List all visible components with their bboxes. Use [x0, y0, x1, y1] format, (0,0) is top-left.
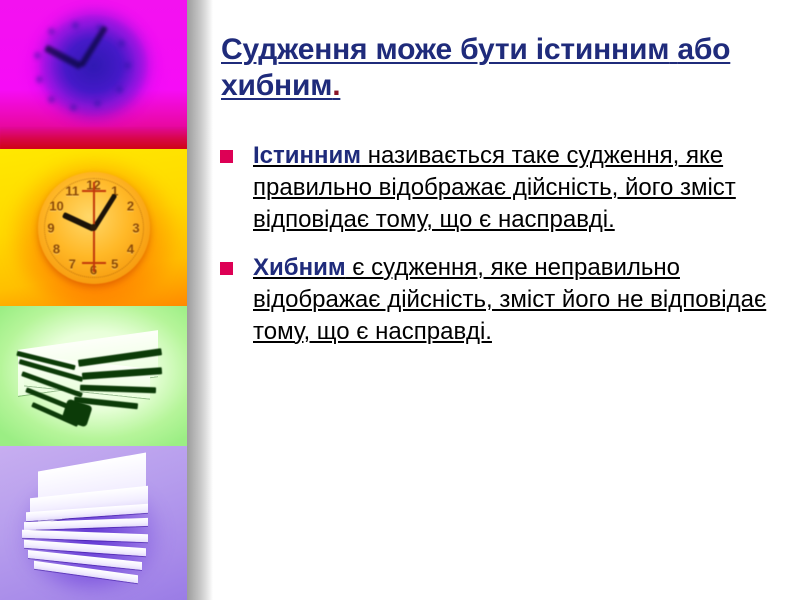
violet-clock-tick [118, 40, 125, 47]
slide-title: Судження може бути істинним або хибним. [221, 32, 761, 105]
violet-panel-bottom-band [0, 127, 187, 149]
violet-clock-face [35, 9, 153, 123]
clock-numeral: 11 [65, 184, 79, 197]
clock-numeral: 2 [127, 200, 134, 213]
bullet-keyword-true: Істинним [253, 142, 361, 169]
slide-title-period: . [332, 69, 340, 102]
presentation-slide: 12 1 2 3 4 5 6 7 8 9 10 11 [0, 0, 800, 600]
bullet-square-icon [220, 262, 233, 275]
image-panel-yellow-clock: 12 1 2 3 4 5 6 7 8 9 10 11 [0, 149, 187, 306]
image-panel-violet-clock [0, 0, 187, 149]
image-panel-purple-papers [0, 446, 187, 600]
clock-numeral: 10 [49, 200, 63, 213]
violet-clock-tick [36, 76, 43, 83]
yellow-clock-hub [90, 224, 97, 231]
clock-numeral: 3 [132, 221, 139, 234]
yellow-clock-crossbar-bottom [82, 262, 106, 264]
clock-numeral: 5 [111, 258, 118, 271]
yellow-clock-second-hand-tail [93, 228, 95, 272]
strip-fade-gradient [187, 0, 213, 600]
violet-clock-tick [48, 96, 55, 103]
clock-numeral: 4 [127, 242, 134, 255]
bullet-square-icon [220, 150, 233, 163]
bullet-text-true: Істинним називається таке судження, яке … [253, 142, 736, 233]
slide-content: Судження може бути істинним або хибним. … [213, 0, 800, 600]
bullet-text-false: Хибним є судження, яке неправильно відоб… [253, 254, 766, 345]
violet-clock-tick [34, 52, 41, 59]
clock-numeral: 8 [53, 242, 60, 255]
violet-clock-tick [116, 86, 123, 93]
violet-clock-tick [70, 104, 77, 111]
bullet-item-true: Істинним називається таке судження, яке … [213, 140, 800, 236]
bullet-keyword-false: Хибним [253, 254, 346, 281]
bullet-item-false: Хибним є судження, яке неправильно відоб… [213, 252, 800, 348]
violet-clock-tick [48, 28, 55, 35]
violet-clock-tick [124, 62, 131, 69]
yellow-clock-face: 12 1 2 3 4 5 6 7 8 9 10 11 [38, 172, 150, 284]
bullet-list: Істинним називається таке судження, яке … [213, 140, 800, 363]
decorative-image-strip: 12 1 2 3 4 5 6 7 8 9 10 11 [0, 0, 187, 600]
violet-clock-tick [72, 22, 79, 29]
violet-clock-tick [94, 100, 101, 107]
image-panel-green-book [0, 306, 187, 446]
yellow-clock-crossbar-top [82, 190, 106, 192]
clock-numeral: 9 [47, 221, 54, 234]
clock-numeral: 7 [69, 258, 76, 271]
slide-title-line1: Судження може бути істинним [221, 33, 669, 66]
